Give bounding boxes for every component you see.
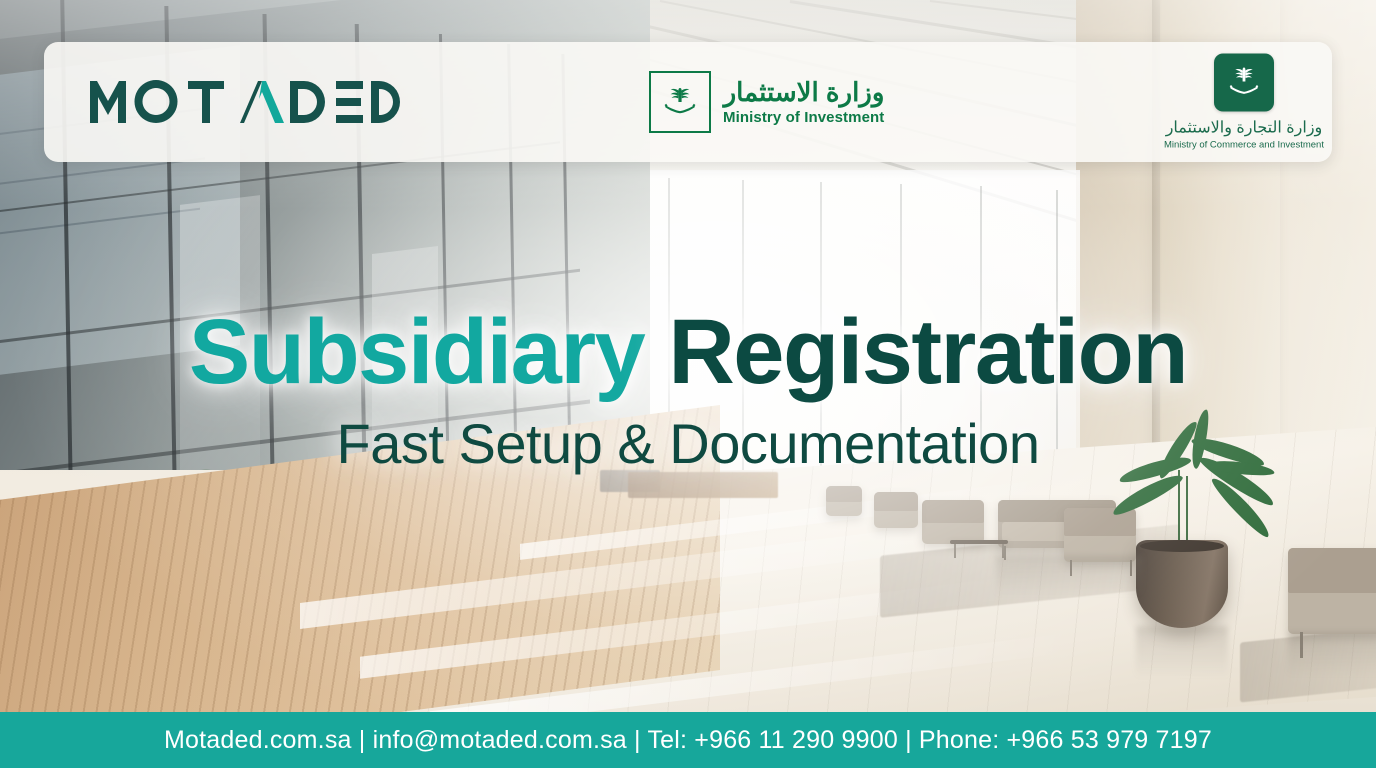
chair-back [826,486,862,502]
logo-card: وزارة الاستثمار Ministry of Investment [44,42,1332,162]
page-title: Subsidiary Registration [0,306,1376,398]
lounge-armchair [922,500,984,544]
saudi-emblem-icon [1214,54,1274,112]
headline-highlight: Subsidiary [189,301,668,403]
furniture-leg [954,544,956,558]
lounge-armchair [1064,508,1136,562]
chair-back [1288,548,1376,593]
ministry-of-commerce-logo: وزارة التجارة والاستثمار Ministry of Com… [1124,54,1364,151]
chair-back [874,492,918,511]
motaded-logo[interactable] [90,79,400,125]
reception-desk [628,472,778,498]
coffee-table [950,540,1008,544]
ministry-of-investment-english: Ministry of Investment [723,110,884,125]
lounge-armchair [826,486,862,516]
contact-info-text[interactable]: Motaded.com.sa | info@motaded.com.sa | T… [164,726,1212,755]
ministry-of-investment-arabic: وزارة الاستثمار [724,79,885,105]
palm-stem [1186,476,1188,548]
page-subtitle: Fast Setup & Documentation [0,416,1376,472]
contact-footer-bar: Motaded.com.sa | info@motaded.com.sa | T… [0,712,1376,768]
headline-main: Registration [668,301,1187,403]
chair-back [922,500,984,523]
floor-reflection [1288,632,1376,676]
ministry-of-commerce-english: Ministry of Commerce and Investment [1164,140,1324,151]
plant-pot [1136,540,1228,628]
ministry-of-investment-text: وزارة الاستثمار Ministry of Investment [723,79,884,125]
ministry-of-investment-logo: وزارة الاستثمار Ministry of Investment [649,71,884,133]
saudi-emblem-icon [649,71,711,133]
ministry-of-commerce-arabic: وزارة التجارة والاستثمار [1166,118,1323,138]
lounge-armchair [1288,548,1376,634]
floor-reflection [996,556,1142,596]
lounge-armchair [874,492,918,528]
floor-reflection [1136,626,1228,678]
promotional-banner: وزارة الاستثمار Ministry of Investment [0,0,1376,768]
